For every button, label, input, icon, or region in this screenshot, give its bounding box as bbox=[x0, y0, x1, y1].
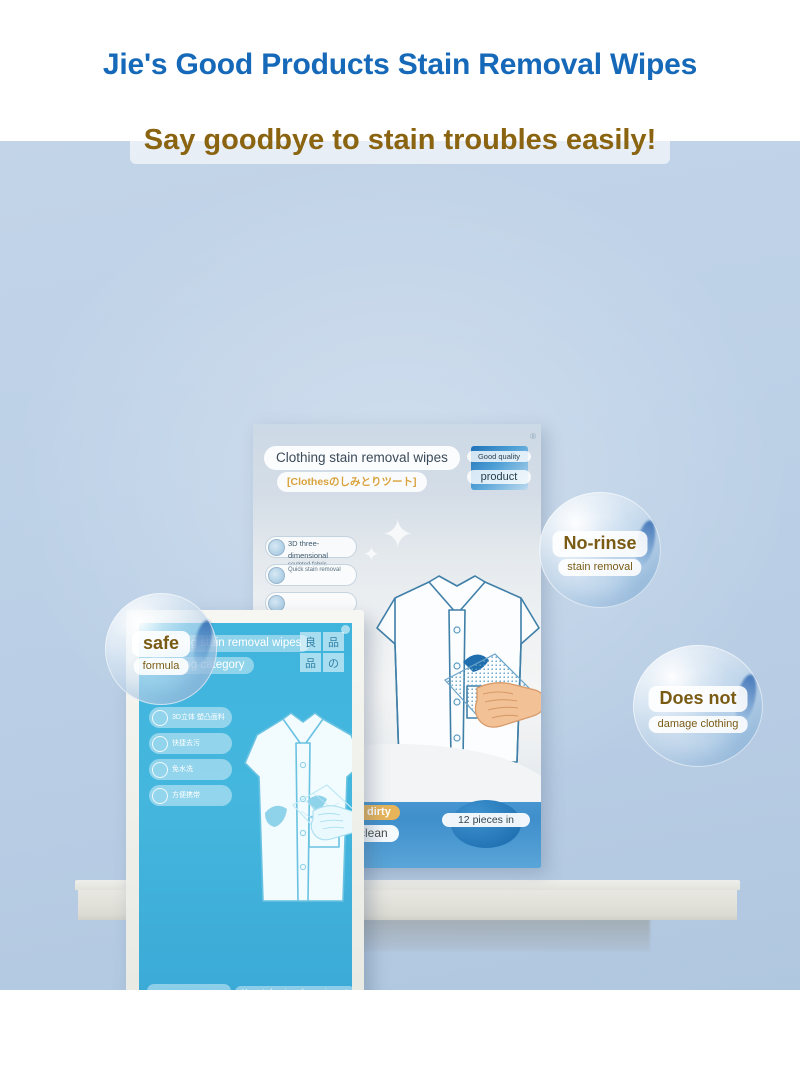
small-box-footer-right: Urgent cleaning when going out bbox=[235, 986, 352, 990]
bottom-white-band bbox=[0, 990, 800, 1090]
headline-primary: Jie's Good Products Stain Removal Wipes bbox=[89, 44, 711, 88]
small-box-footer-left: 衣物去污湿巾·便携装 bbox=[147, 984, 231, 990]
quality-badge-line1: Good quality bbox=[467, 451, 531, 462]
small-feature-chip-4-text: 方便携带 bbox=[172, 785, 229, 806]
bubble-norinse-label-secondary: stain removal bbox=[558, 559, 641, 576]
bubble-safe-label-secondary: formula bbox=[134, 658, 189, 675]
registered-trademark-icon: ® bbox=[530, 432, 536, 441]
headline-primary-wrap: Jie's Good Products Stain Removal Wipes bbox=[0, 44, 800, 88]
kanji-cell-1: 良 bbox=[300, 632, 321, 651]
sparkle-small-icon: ✦ bbox=[363, 542, 380, 567]
feature-chip-2-sub: Quick stain removal bbox=[288, 567, 341, 573]
headline-secondary-wrap: Say goodbye to stain troubles easily! bbox=[0, 120, 800, 164]
headline-secondary: Say goodbye to stain troubles easily! bbox=[130, 120, 670, 164]
bubble-norinse-label-primary: No-rinse bbox=[552, 531, 647, 557]
small-box-footer-left-text: 衣物去污湿巾·便携装 bbox=[147, 984, 231, 990]
kanji-grid: 良 品 品 の bbox=[300, 632, 344, 672]
product-box-large-title: Clothing stain removal wipes bbox=[264, 446, 460, 470]
sparkle-icon: ✦ bbox=[381, 512, 415, 558]
bubble-doesnot-label-secondary: damage clothing bbox=[649, 716, 748, 733]
quality-badge-line2: product bbox=[467, 470, 531, 484]
water-drop-icon-small bbox=[152, 762, 168, 778]
hand-wiping-illustration-small bbox=[289, 783, 352, 845]
kanji-cell-2: 品 bbox=[323, 632, 344, 651]
fabric-texture-icon-small bbox=[152, 710, 168, 726]
feature-chip-3d-fabric: 3D three-dimensional sculpted fabric bbox=[265, 536, 357, 558]
small-feature-chip-1: 3D立体 塑凸面料 bbox=[149, 707, 232, 728]
kanji-cell-3: 品 bbox=[300, 653, 321, 672]
feature-chip-2-text: Quick stain removal bbox=[288, 566, 353, 575]
count-badge-circle: 12 pieces in bbox=[451, 800, 521, 848]
kanji-cell-4: の bbox=[323, 653, 344, 672]
bubble-safe-label-primary: safe bbox=[132, 631, 190, 657]
bubble-does-not-damage: Does not damage clothing bbox=[633, 645, 763, 767]
small-feature-chip-2-text: 快捷去污 bbox=[172, 733, 229, 754]
hand-wiping-illustration-large bbox=[439, 652, 541, 738]
portable-icon-small bbox=[152, 788, 168, 804]
feature-chip-quick-removal: Quick stain removal bbox=[265, 564, 357, 586]
pill-dirty: dirty bbox=[358, 805, 400, 820]
small-feature-chip-2: 快捷去污 bbox=[149, 733, 232, 754]
good-quality-product-badge: Good quality product bbox=[471, 446, 528, 490]
feature-chip-1-title: 3D three-dimensional bbox=[288, 538, 353, 561]
small-feature-chip-3-text: 免水洗 bbox=[172, 759, 229, 780]
small-feature-chip-1-text: 3D立体 塑凸面料 bbox=[172, 707, 229, 728]
scene-background: ✦ ✦ bbox=[0, 141, 800, 990]
product-box-large-subtitle: [Clothesのしみとりツート] bbox=[277, 472, 427, 492]
bubble-doesnot-label-primary: Does not bbox=[648, 686, 747, 712]
small-feature-chip-4: 方便携带 bbox=[149, 785, 232, 806]
bubble-safe-formula: safe formula bbox=[105, 593, 217, 705]
count-badge-label: 12 pieces in bbox=[442, 813, 530, 827]
stain-removal-icon-small bbox=[152, 736, 168, 752]
small-feature-chip-3: 免水洗 bbox=[149, 759, 232, 780]
bubble-no-rinse: No-rinse stain removal bbox=[539, 492, 661, 608]
fabric-texture-icon bbox=[268, 539, 285, 556]
stain-removal-icon bbox=[268, 567, 285, 584]
